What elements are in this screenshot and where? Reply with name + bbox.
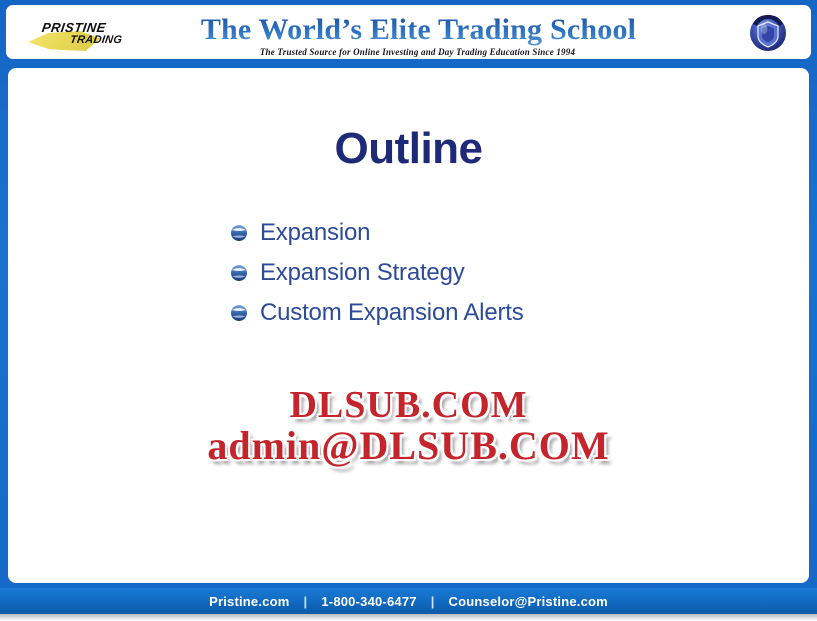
footer-email[interactable]: Counselor@Pristine.com: [449, 594, 608, 609]
header-subtitle: The Trusted Source for Online Investing …: [6, 47, 811, 57]
watermark-site: DLSUB.COM: [8, 386, 809, 425]
watermark-email: admin@DLSUB.COM: [8, 425, 809, 466]
list-item-label: Expansion: [260, 219, 370, 247]
globe-bullet-icon: [228, 262, 250, 284]
presentation-slide: PRISTINE TRADING The World’s Elite Tradi…: [0, 0, 817, 621]
list-item: Custom Expansion Alerts: [228, 293, 524, 333]
slide-footer: Pristine.com | 1-800-340-6477 | Counselo…: [0, 588, 817, 614]
globe-bullet-icon: [228, 302, 250, 324]
slide-header: PRISTINE TRADING The World’s Elite Tradi…: [6, 5, 811, 59]
list-item: Expansion: [228, 213, 524, 253]
slide-body: Outline Expansion: [8, 68, 809, 583]
outline-bullet-list: Expansion Expansion Strategy Custom Expa…: [228, 213, 524, 333]
footer-separator: |: [290, 594, 322, 609]
footer-phone[interactable]: 1-800-340-6477: [321, 594, 416, 609]
page-title: Outline: [8, 124, 809, 174]
list-item-label: Expansion Strategy: [260, 259, 465, 287]
footer-website[interactable]: Pristine.com: [209, 594, 289, 609]
watermark-overlay: DLSUB.COM admin@DLSUB.COM: [8, 386, 809, 466]
list-item: Expansion Strategy: [228, 253, 524, 293]
header-title: The World’s Elite Trading School: [6, 13, 811, 47]
footer-separator: |: [417, 594, 449, 609]
bottom-edge-strip: [0, 614, 817, 621]
globe-bullet-icon: [228, 222, 250, 244]
list-item-label: Custom Expansion Alerts: [260, 299, 524, 327]
crest-emblem-icon: [745, 9, 791, 55]
